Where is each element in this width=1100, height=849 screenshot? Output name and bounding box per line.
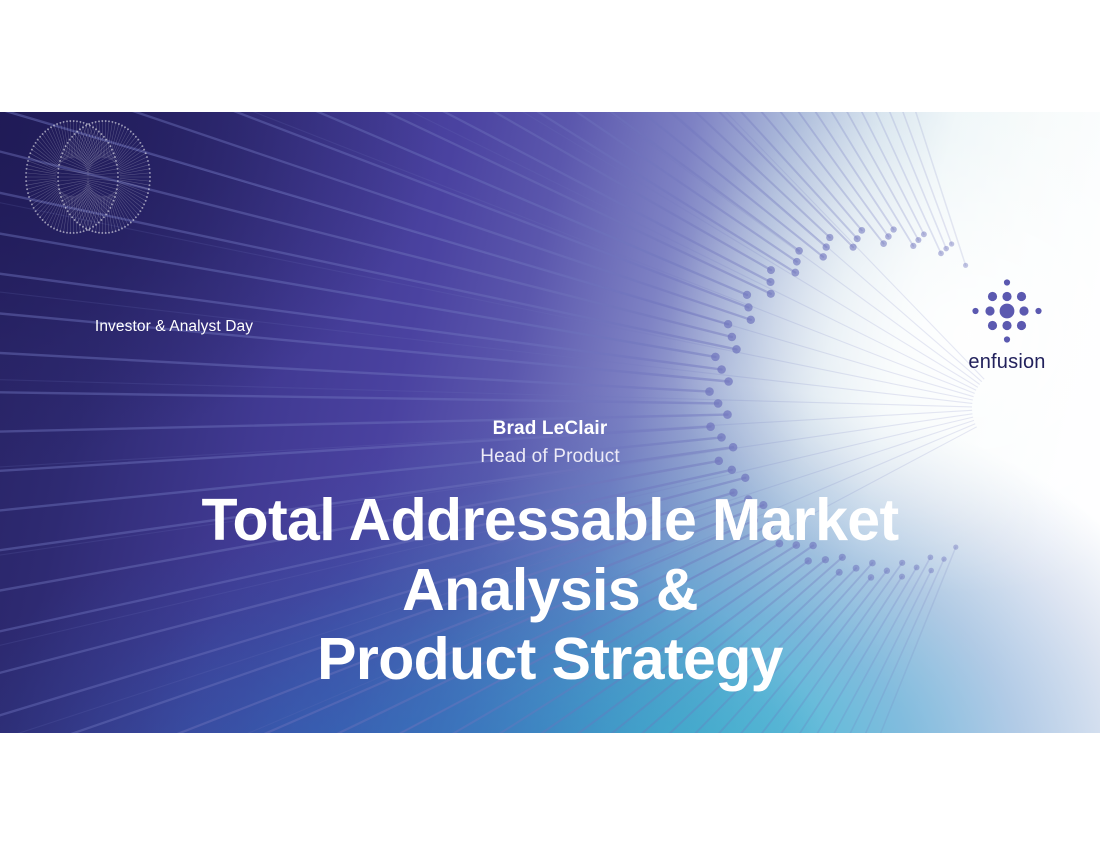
brand-logo: enfusion [952,278,1062,374]
speaker-name: Brad LeClair [0,416,1100,442]
page-title: Total Addressable Market Analysis & Prod… [0,486,1100,695]
radial-sunburst-badge-icon [0,112,180,242]
title-line-3: Product Strategy [0,625,1100,695]
speaker-role: Head of Product [0,442,1100,472]
badge-label: Investor & Analyst Day [74,318,274,336]
brand-wordmark: enfusion [952,351,1062,374]
speaker-block: Brad LeClair Head of Product [0,416,1100,472]
title-slide: Investor & Analyst Day enfusion [0,112,1100,733]
enfusion-diamond-dots-logo-icon [971,278,1043,344]
title-line-2: Analysis & [0,556,1100,626]
title-line-1: Total Addressable Market [0,486,1100,556]
